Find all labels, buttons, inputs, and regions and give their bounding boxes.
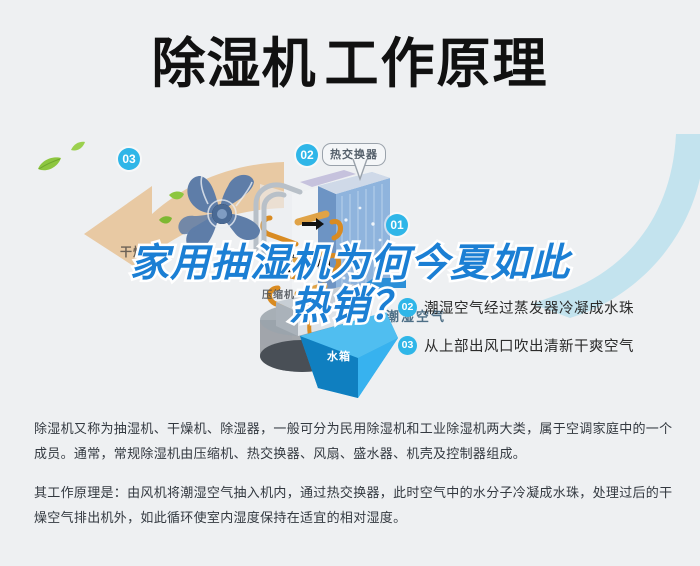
fan-icon (172, 168, 268, 260)
step-number: 03 (398, 336, 417, 355)
dry-air-label: 干燥空气 (120, 243, 172, 260)
step-number: 02 (398, 298, 417, 317)
step-text: 从上部出风口吹出清新干爽空气 (424, 335, 634, 356)
leaf-icon (158, 214, 173, 232)
leaf-icon (36, 156, 62, 179)
leaf-icon (70, 140, 86, 158)
body-paragraph-2: 其工作原理是：由风机将潮湿空气抽入机内，通过热交换器，此时空气中的水分子冷凝成水… (34, 480, 674, 530)
step-list: 02 潮湿空气经过蒸发器冷凝成水珠 03 从上部出风口吹出清新干爽空气 (398, 288, 698, 364)
title-text: 除湿机工作原理 (152, 37, 549, 91)
title-bold-part: 工作原理 (325, 34, 549, 94)
infographic-page: 除湿机工作原理 干燥空气 潮湿空气 (0, 0, 700, 566)
title-light-part: 除湿机 (152, 34, 317, 94)
dehumidifier-diagram: 干燥空气 潮湿空气 (0, 126, 700, 408)
badge-02-heat-exchanger: 02 (296, 144, 318, 166)
body-copy: 除湿机又称为抽湿机、干燥机、除湿器，一般可分为民用除湿机和工业除湿机两大类，属于… (34, 416, 674, 530)
badge-03-dry-air: 03 (118, 148, 140, 170)
list-item: 02 潮湿空气经过蒸发器冷凝成水珠 (398, 288, 698, 326)
badge-01-humid-air: 01 (386, 214, 408, 236)
step-text: 潮湿空气经过蒸发器冷凝成水珠 (424, 297, 634, 318)
page-title: 除湿机工作原理 (0, 0, 700, 128)
compressor-label: 压缩机 (262, 286, 295, 301)
water-tank-label: 水箱 (327, 348, 351, 364)
list-item: 03 从上部出风口吹出清新干爽空气 (398, 326, 698, 364)
callout-tail-icon (352, 159, 368, 181)
dehumidifier-unit (240, 160, 440, 400)
body-paragraph-1: 除湿机又称为抽湿机、干燥机、除湿器，一般可分为民用除湿机和工业除湿机两大类，属于… (34, 416, 674, 466)
